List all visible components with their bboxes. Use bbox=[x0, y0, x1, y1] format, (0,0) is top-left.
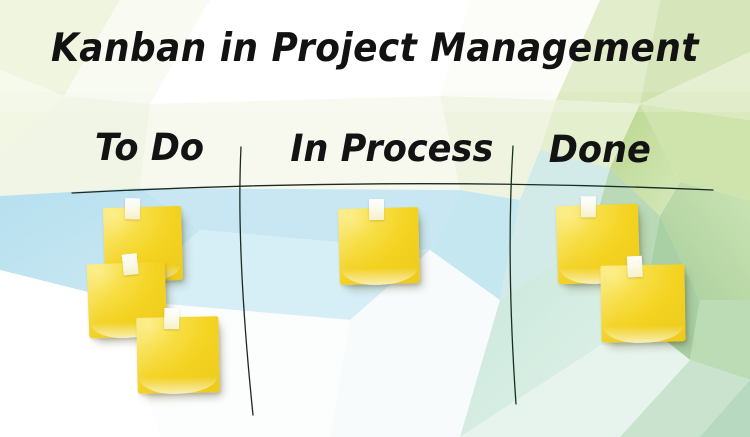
tape-strip-icon bbox=[369, 199, 384, 220]
column-header-done: Done bbox=[549, 128, 651, 171]
sticky-note-done-2[interactable] bbox=[600, 264, 685, 342]
kanban-board: Kanban in Project Management To Do In Pr… bbox=[0, 0, 750, 437]
tape-strip-icon bbox=[125, 198, 141, 219]
sticky-note-in-process-1[interactable] bbox=[338, 207, 420, 285]
page-title: Kanban in Project Management bbox=[30, 26, 720, 71]
sticky-note-icon bbox=[600, 264, 685, 342]
tape-strip-icon bbox=[122, 253, 139, 275]
column-header-in-process: In Process bbox=[290, 127, 493, 170]
tape-strip-icon bbox=[627, 256, 643, 278]
tape-strip-icon bbox=[164, 308, 179, 329]
column-header-todo: To Do bbox=[95, 126, 204, 169]
sticky-note-todo-3[interactable] bbox=[136, 316, 220, 394]
tape-strip-icon bbox=[581, 196, 596, 217]
